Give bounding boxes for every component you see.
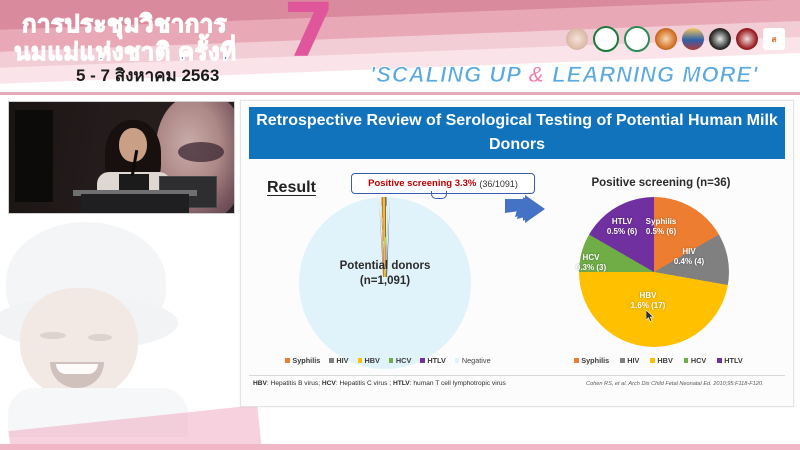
- slide-title: Retrospective Review of Serological Test…: [249, 107, 785, 159]
- mouse-cursor-icon: [646, 309, 655, 321]
- legend-item-syphilis-right[interactable]: Syphilis: [574, 356, 609, 365]
- logo-breastfeeding-foundation: [655, 28, 677, 50]
- block-arrow-icon: [503, 195, 547, 235]
- legend-label-hiv-left: HIV: [336, 356, 348, 365]
- legend-item-htlv-right[interactable]: HTLV: [717, 356, 743, 365]
- legend-item-hbv-left[interactable]: HBV: [358, 356, 380, 365]
- slice-pct-htlv: 0.5%: [607, 227, 625, 236]
- logo-thai-royal-emblem: [566, 28, 588, 50]
- legend-swatch-hbv: [358, 358, 363, 363]
- bottom-pink-strip: [0, 444, 800, 450]
- footnote-text-hbv: : Hepatitis B virus;: [267, 380, 322, 387]
- potential-donors-legend: Syphilis HIV HBV HCV HTLV Negative: [273, 356, 503, 365]
- screen: 7 การประชุมวิชาการ นมแม่แห่งชาติ ครั้งที…: [0, 0, 800, 450]
- legend-label-hcv-left: HCV: [396, 356, 411, 365]
- child-eye-left: [40, 332, 66, 339]
- logo-thaihealth-sss: ส: [763, 28, 785, 50]
- potential-donors-title: Potential donors: [299, 259, 471, 274]
- legend-label-negative-left: Negative: [462, 356, 491, 365]
- tagline-ampersand: &: [528, 62, 545, 87]
- footnote-divider: [249, 375, 785, 376]
- potential-donors-subtitle: (n=1,091): [299, 274, 471, 289]
- legend-label-syphilis-left: Syphilis: [292, 356, 320, 365]
- slice-name-hcv: HCV: [567, 253, 615, 263]
- callout-pointer: [431, 191, 447, 199]
- podium: [81, 194, 189, 214]
- slice-name-hbv: HBV: [617, 291, 679, 301]
- slice-pct-hiv: 0.4%: [674, 257, 692, 266]
- conference-thai-date: 5 - 7 สิงหาคม 2563: [76, 62, 219, 89]
- tagline-part1: 'SCALING UP: [370, 62, 528, 87]
- footnote-abbr-htlv: HTLV: [393, 380, 410, 387]
- legend-item-hbv-right[interactable]: HBV: [650, 356, 672, 365]
- legend-swatch-syphilis-r: [574, 358, 579, 363]
- conference-banner: 7 การประชุมวิชาการ นมแม่แห่งชาติ ครั้งที…: [0, 0, 800, 95]
- sponsor-logo-strip: ส: [566, 26, 785, 52]
- legend-swatch-htlv-r: [717, 358, 722, 363]
- legend-item-hiv-left[interactable]: HIV: [329, 356, 348, 365]
- legend-label-htlv-left: HTLV: [427, 356, 446, 365]
- slice-count-hiv: (4): [694, 257, 704, 266]
- legend-label-hbv-left: HBV: [365, 356, 380, 365]
- legend-swatch-hiv-r: [620, 358, 625, 363]
- legend-label-hiv-right: HIV: [627, 356, 639, 365]
- legend-label-hbv-right: HBV: [657, 356, 672, 365]
- legend-item-htlv-left[interactable]: HTLV: [420, 356, 446, 365]
- logo-royal-crest: [682, 28, 704, 50]
- footnote-abbr-hcv: HCV: [322, 380, 336, 387]
- presentation-slide: Retrospective Review of Serological Test…: [240, 100, 794, 407]
- pie-slice-label-hiv: HIV 0.4% (4): [665, 247, 713, 267]
- legend-label-syphilis-right: Syphilis: [581, 356, 609, 365]
- legend-swatch-hcv: [389, 358, 394, 363]
- logo-university-seal: [709, 28, 731, 50]
- legend-swatch-syphilis: [285, 358, 290, 363]
- slice-name-htlv: HTLV: [597, 217, 647, 227]
- banner-bottom-rule: [0, 92, 800, 95]
- logo-medical-council: [736, 28, 758, 50]
- callout-sub-text: (36/1091): [479, 179, 518, 189]
- pie-slice-label-hbv: HBV 1.6% (17): [617, 291, 679, 311]
- slice-count-htlv: (6): [627, 227, 637, 236]
- background-child-photo: [0, 222, 232, 437]
- source-citation: Cohen RS, et al. Arch Dis Child Fetal Ne…: [586, 381, 764, 387]
- tagline-part2: LEARNING MORE': [545, 62, 758, 87]
- legend-swatch-hbv-r: [650, 358, 655, 363]
- slice-pct-hcv: 0.3%: [576, 263, 594, 272]
- legend-swatch-htlv: [420, 358, 425, 363]
- legend-item-syphilis-left[interactable]: Syphilis: [285, 356, 320, 365]
- slice-name-hiv: HIV: [665, 247, 713, 257]
- conference-tagline: 'SCALING UP & LEARNING MORE': [370, 62, 758, 88]
- child-teeth: [56, 364, 98, 374]
- legend-label-htlv-right: HTLV: [724, 356, 743, 365]
- video-face-shadow: [178, 142, 224, 162]
- legend-item-hcv-right[interactable]: HCV: [684, 356, 706, 365]
- footnote-text-hcv: : Hepatitis C virus ;: [336, 380, 393, 387]
- callout-main-text: Positive screening 3.3%: [368, 178, 476, 189]
- result-heading: Result: [267, 179, 316, 197]
- pie-slice-label-hcv: HCV 0.3% (3): [567, 253, 615, 273]
- conference-edition-number: 7: [283, 0, 335, 68]
- positive-screening-legend: Syphilis HIV HBV HCV HTLV: [546, 356, 771, 365]
- footnote-text-htlv: : human T cell lymphotropic virus: [410, 380, 506, 387]
- legend-swatch-hcv-r: [684, 358, 689, 363]
- legend-item-negative-left[interactable]: Negative: [455, 356, 491, 365]
- legend-swatch-negative: [455, 358, 460, 363]
- child-eye-right: [88, 334, 112, 341]
- logo-ministry-public-health: [593, 26, 619, 52]
- legend-swatch-hiv: [329, 358, 334, 363]
- positive-screening-chart-title: Positive screening (n=36): [556, 177, 766, 189]
- live-speaker-video[interactable]: [8, 101, 235, 214]
- slice-count-hcv: (3): [596, 263, 606, 272]
- footnote-abbr-hbv: HBV: [253, 380, 267, 387]
- pie-slice-label-htlv: HTLV 0.5% (6): [597, 217, 647, 237]
- slice-count-syphilis: (6): [666, 227, 676, 236]
- abbreviation-footnote: HBV: Hepatitis B virus; HCV: Hepatitis C…: [253, 380, 506, 387]
- slice-pct-syphilis: 0.5%: [646, 227, 664, 236]
- legend-label-hcv-right: HCV: [691, 356, 706, 365]
- potential-donors-center-label: Potential donors (n=1,091): [299, 259, 471, 289]
- logo-department-health: [624, 26, 650, 52]
- legend-item-hcv-left[interactable]: HCV: [389, 356, 411, 365]
- video-dark-panel: [15, 110, 53, 202]
- legend-item-hiv-right[interactable]: HIV: [620, 356, 639, 365]
